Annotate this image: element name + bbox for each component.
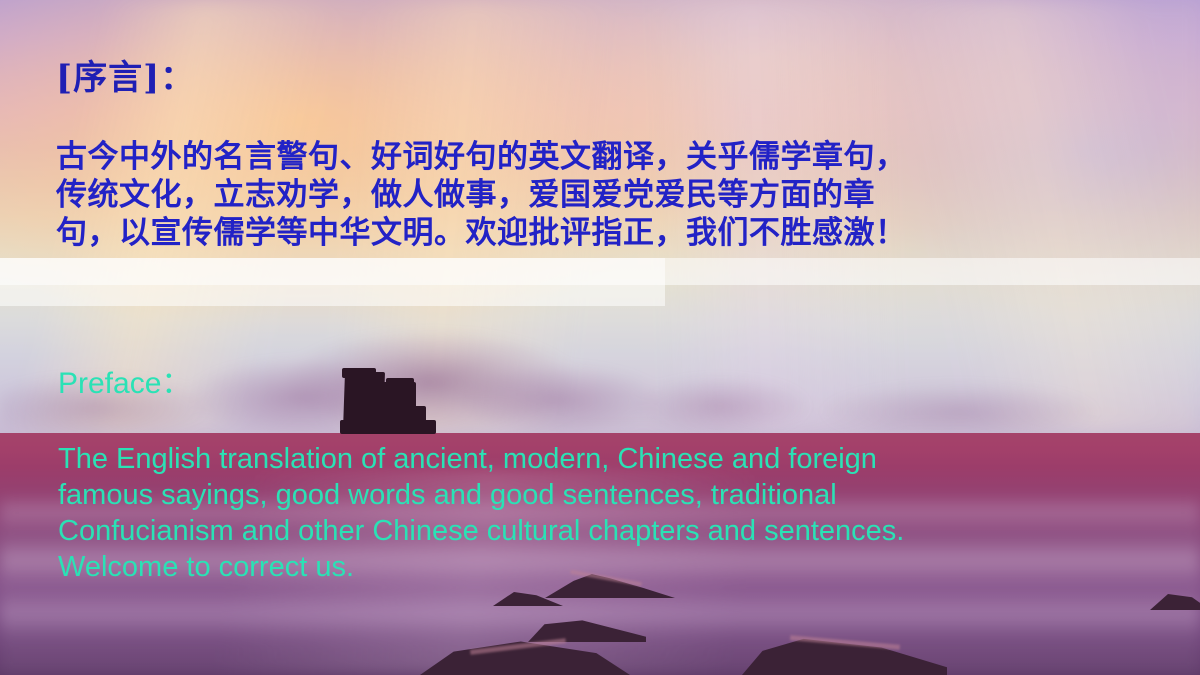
chinese-paragraph-line: 句，以宣传儒学等中华文明。欢迎批评指正，我们不胜感激！ xyxy=(56,214,1161,252)
chinese-paragraph-line: 古今中外的名言警句、好词好句的英文翻译，关乎儒学章句， xyxy=(56,138,1161,176)
translucent-banner-strip xyxy=(0,258,1200,285)
english-heading: Preface： xyxy=(58,358,191,402)
sea-stack-part xyxy=(386,378,414,386)
english-paragraph-line: Confucianism and other Chinese cultural … xyxy=(58,513,1138,549)
chinese-heading: [序言]： xyxy=(56,50,195,99)
sea-stack-part xyxy=(342,368,376,378)
chinese-paragraph: 古今中外的名言警句、好词好句的英文翻译，关乎儒学章句， 传统文化，立志劝学，做人… xyxy=(56,138,1161,252)
english-paragraph-line: famous sayings, good words and good sent… xyxy=(58,477,1138,513)
sea-stack-silhouette xyxy=(340,366,450,436)
presentation-slide: [序言]： 古今中外的名言警句、好词好句的英文翻译，关乎儒学章句， 传统文化，立… xyxy=(0,0,1200,675)
english-paragraph-line: The English translation of ancient, mode… xyxy=(58,441,1138,477)
sea-stack-part xyxy=(410,406,426,432)
english-paragraph: The English translation of ancient, mode… xyxy=(58,441,1138,585)
english-paragraph-line: Welcome to correct us. xyxy=(58,549,1138,585)
chinese-paragraph-line: 传统文化，立志劝学，做人做事，爱国爱党爱民等方面的章 xyxy=(56,176,1161,214)
